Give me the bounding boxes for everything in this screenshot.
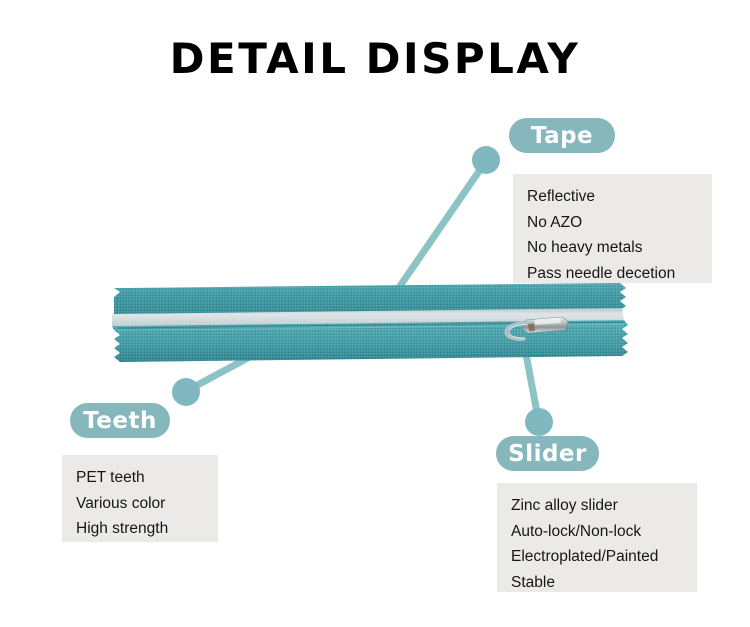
page-title: DETAIL DISPLAY [0,34,750,83]
callout-label-slider[interactable]: Slider [496,436,599,471]
callout-teeth-line-3: High strength [76,516,204,542]
callout-box-teeth: PET teeth Various color High strength [62,455,218,542]
callout-box-tape: Reflective No AZO No heavy metals Pass n… [513,174,712,283]
callout-box-slider: Zinc alloy slider Auto-lock/Non-lock Ele… [497,483,697,592]
detail-display-page: DETAIL DISPLAY [0,0,750,627]
callout-tape-line-3: No heavy metals [527,235,698,261]
leader-dot-slider [525,408,553,436]
callout-label-teeth[interactable]: Teeth [70,403,170,438]
callout-slider-line-2: Auto-lock/Non-lock [511,519,683,545]
leader-dot-tape [472,146,500,174]
callout-slider-line-4: Stable [511,570,683,596]
leader-dot-teeth [172,378,200,406]
callout-teeth-line-2: Various color [76,491,204,517]
callout-slider-line-1: Zinc alloy slider [511,493,683,519]
callout-tape-line-1: Reflective [527,184,698,210]
callout-tape-line-2: No AZO [527,210,698,236]
callout-slider-line-3: Electroplated/Painted [511,544,683,570]
callout-tape-line-4: Pass needle decetion [527,261,698,287]
callout-teeth-line-1: PET teeth [76,465,204,491]
callout-label-tape[interactable]: Tape [509,118,615,153]
zipper-product-image [112,281,628,365]
